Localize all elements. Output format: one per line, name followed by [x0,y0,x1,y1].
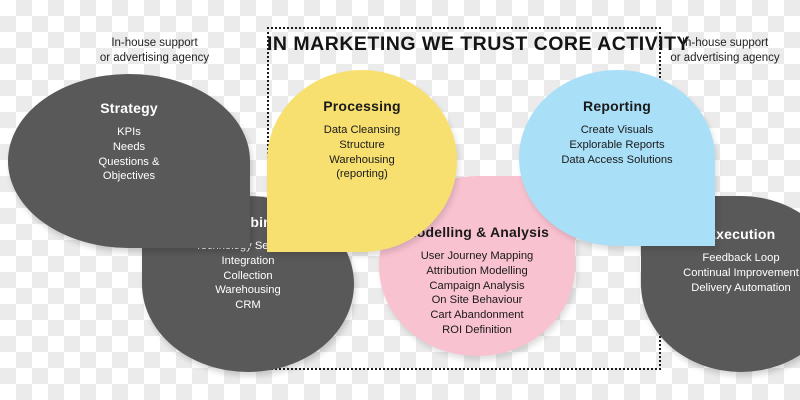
stage-item: Create Visuals [561,123,672,138]
caption-right: In-house support or advertising agency [650,36,800,65]
stage-execution-title: Execution [707,226,776,242]
stage-item: Integration [195,254,301,269]
caption-left-line1: In-house support [62,36,247,51]
stage-processing-items: Data CleansingStructureWarehousing(repor… [324,123,401,182]
caption-left-line2: or advertising agency [62,51,247,66]
stage-strategy[interactable]: Strategy KPIsNeedsQuestions &Objectives [8,74,250,248]
stage-item: Warehousing [195,283,301,298]
stage-execution-items: Feedback LoopContinual ImprovementDelive… [683,251,799,295]
stage-item: Continual Improvement [683,266,799,281]
stage-item: Feedback Loop [683,251,799,266]
stage-item: (reporting) [324,167,401,182]
stage-item: On Site Behaviour [421,293,534,308]
stage-item: Structure [324,138,401,153]
stage-item: Cart Abandonment [421,308,534,323]
stage-item: Warehousing [324,153,401,168]
stage-item: Delivery Automation [683,281,799,296]
stage-strategy-title: Strategy [100,100,158,116]
stage-reporting-title: Reporting [583,98,651,114]
stage-processing[interactable]: Processing Data CleansingStructureWareho… [267,70,457,252]
stage-item: Data Cleansing [324,123,401,138]
caption-left: In-house support or advertising agency [62,36,247,65]
stage-item: Attribution Modelling [421,264,534,279]
stage-item: Needs [99,140,160,155]
stage-item: KPIs [99,125,160,140]
stage-item: User Journey Mapping [421,249,534,264]
stage-strategy-items: KPIsNeedsQuestions &Objectives [99,125,160,184]
stage-item: CRM [195,298,301,313]
stage-item: Data Access Solutions [561,153,672,168]
stage-item: Objectives [99,169,160,184]
stage-item: ROI Definition [421,323,534,338]
diagram-canvas: IN MARKETING WE TRUST CORE ACTIVITY In-h… [0,0,800,400]
caption-right-line1: In-house support [650,36,800,51]
stage-reporting[interactable]: Reporting Create VisualsExplorable Repor… [519,70,715,246]
stage-processing-title: Processing [323,98,400,114]
stage-modelling-analysis-items: User Journey MappingAttribution Modellin… [421,249,534,338]
stage-item: Questions & [99,155,160,170]
stage-item: Explorable Reports [561,138,672,153]
core-activity-title: IN MARKETING WE TRUST CORE ACTIVITY [267,33,661,56]
caption-right-line2: or advertising agency [650,51,800,66]
stage-reporting-items: Create VisualsExplorable ReportsData Acc… [561,123,672,167]
stage-item: Collection [195,269,301,284]
stage-item: Campaign Analysis [421,279,534,294]
